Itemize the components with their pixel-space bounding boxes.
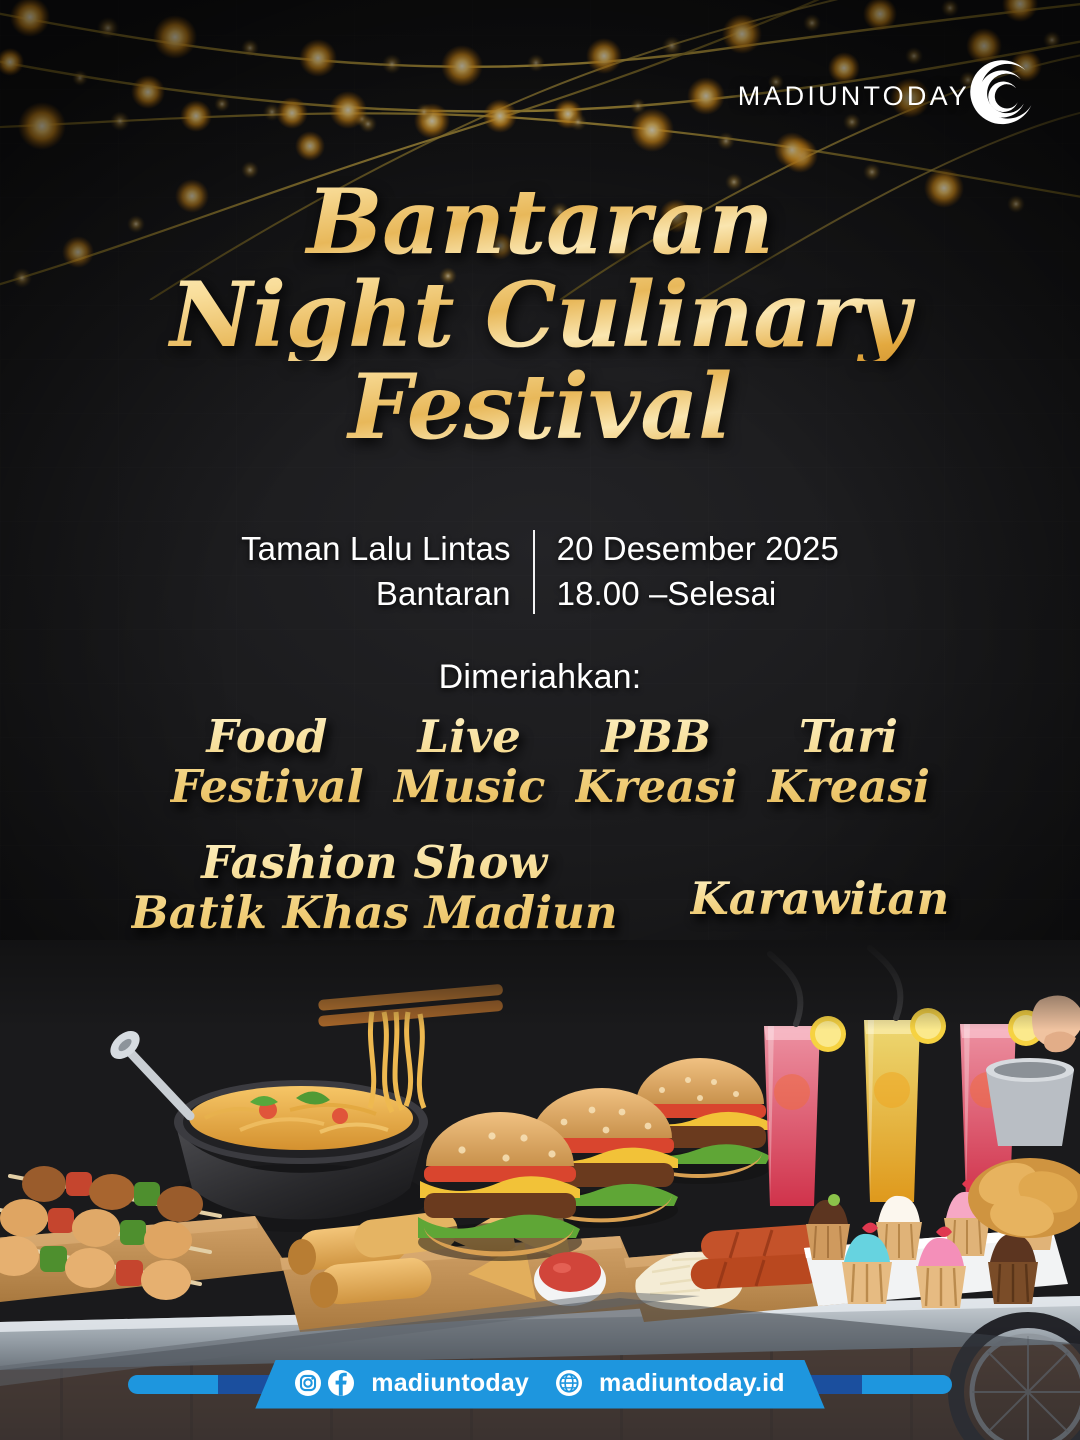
lineup-item-karawitan: Karawitan <box>690 874 950 924</box>
poster-title: Bantaran Night Culinary Festival <box>0 176 1080 454</box>
datetime-block: 20 Desember 2025 18.00 –Selesai <box>535 527 861 617</box>
facebook-icon[interactable] <box>328 1370 354 1396</box>
instagram-icon[interactable] <box>295 1370 321 1396</box>
footer-bar: madiuntoday madiuntoday.id <box>0 1356 1080 1412</box>
venue-line-1: Taman Lalu Lintas <box>241 527 511 572</box>
info-divider <box>533 530 535 614</box>
venue-line-2: Bantaran <box>241 572 511 617</box>
venue-block: Taman Lalu Lintas Bantaran <box>219 527 533 617</box>
social-icon-group <box>295 1370 354 1396</box>
lineup-item-pbb-kreasi: PBB Kreasi <box>575 712 738 811</box>
lineup-item-live-music: Live Music <box>393 712 545 811</box>
title-line-2: Night Culinary <box>0 269 1080 362</box>
social-handle-text[interactable]: madiuntoday <box>371 1369 529 1398</box>
event-info: Taman Lalu Lintas Bantaran 20 Desember 2… <box>0 527 1080 617</box>
footer-bar-right-lightblue <box>862 1375 952 1394</box>
website-text[interactable]: madiuntoday.id <box>599 1369 785 1398</box>
footer-social-plate: madiuntoday madiuntoday.id <box>255 1360 824 1409</box>
lineup-item-tari-kreasi: Tari Kreasi <box>767 712 930 811</box>
globe-icon[interactable] <box>556 1370 582 1396</box>
title-line-3: Festival <box>0 361 1080 454</box>
poster-canvas: MADIUNTODAY Bantaran Night Culinary Fest… <box>0 0 1080 1440</box>
title-line-1: Bantaran <box>0 176 1080 269</box>
brand-logo-text: MADIUNTODAY <box>738 81 970 112</box>
event-date: 20 Desember 2025 <box>557 527 839 572</box>
lineup-row-2: Fashion Show Batik Khas Madiun Karawitan <box>0 838 1080 939</box>
lineup-item-fashion-show: Fashion Show Batik Khas Madiun <box>131 838 618 939</box>
lineup-row-1: Food Festival Live Music PBB Kreasi Tari… <box>170 712 930 811</box>
brand-logo: MADIUNTODAY <box>738 58 1042 134</box>
lineup-item-food-festival: Food Festival <box>170 712 364 811</box>
footer-bar-left-lightblue <box>128 1375 218 1394</box>
event-time: 18.00 –Selesai <box>557 572 839 617</box>
crescent-swirl-logo-icon <box>966 58 1042 134</box>
lineup-heading: Dimeriahkan: <box>0 658 1080 697</box>
